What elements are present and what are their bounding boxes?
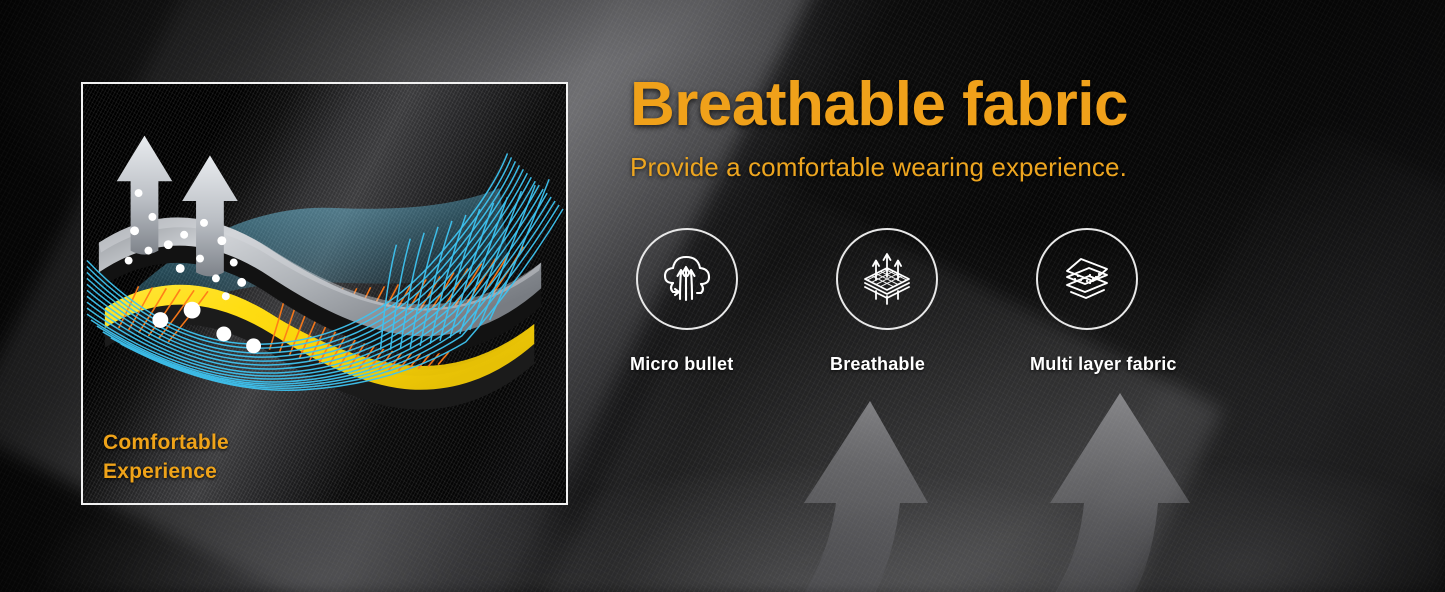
feature-item-micro-bullet: Micro bullet (630, 228, 830, 375)
page-title: Breathable fabric (630, 74, 1390, 136)
stacked-sheets-icon (1055, 247, 1119, 311)
feature-item-multi-layer-fabric: Multi layer fabric (1030, 228, 1230, 375)
headline-block: Breathable fabric Provide a comfortable … (630, 74, 1390, 183)
breathable-fabric-banner: Comfortable Experience Breathable fabric… (0, 0, 1445, 592)
cloud-airflow-icon (655, 247, 719, 311)
feature-icon-circle (836, 228, 938, 330)
feature-icon-circle (1036, 228, 1138, 330)
panel-caption-line-2: Experience (103, 458, 229, 487)
panel-caption: Comfortable Experience (103, 429, 229, 487)
page-subtitle: Provide a comfortable wearing experience… (630, 152, 1390, 183)
mesh-layers-arrows-icon (855, 247, 919, 311)
fabric-illustration-panel: Comfortable Experience (81, 82, 568, 505)
feature-list: Micro bullet (630, 228, 1230, 375)
feature-label: Breathable (830, 354, 925, 375)
panel-caption-line-1: Comfortable (103, 429, 229, 458)
feature-item-breathable: Breathable (830, 228, 1030, 375)
feature-label: Micro bullet (630, 354, 733, 375)
feature-label: Multi layer fabric (1030, 354, 1177, 375)
feature-icon-circle (636, 228, 738, 330)
